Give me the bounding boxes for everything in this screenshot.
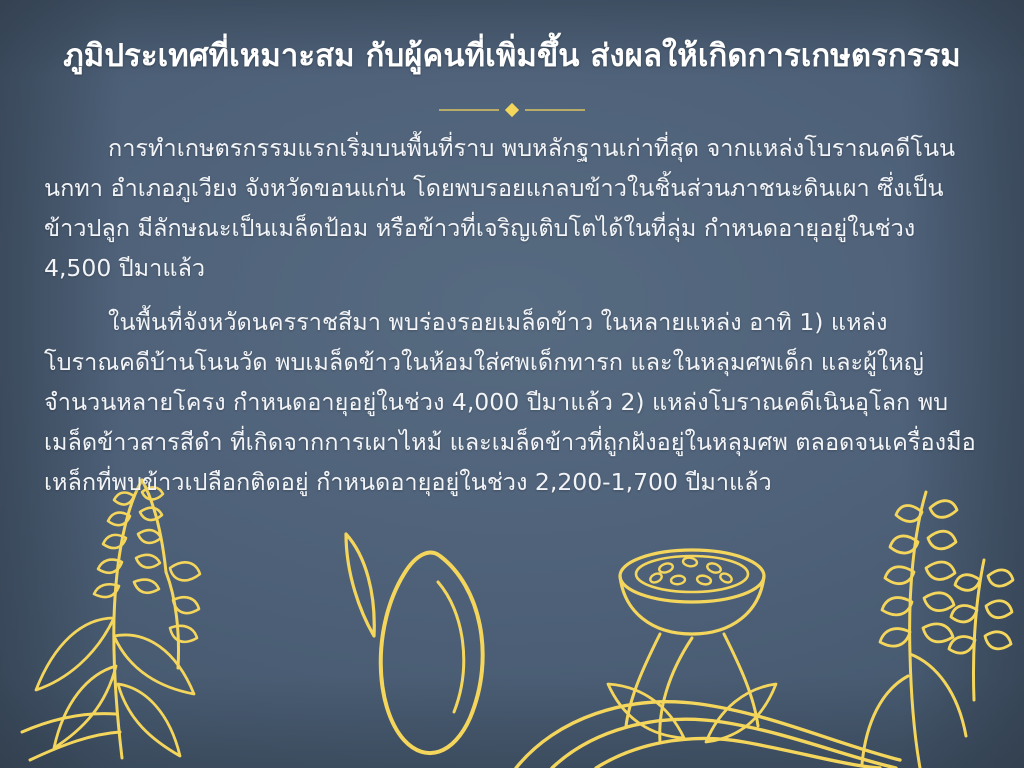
rice-bowl-illustration bbox=[608, 550, 776, 742]
rice-plant-illustration bbox=[22, 480, 200, 760]
paragraph-2: ในพื้นที่จังหวัดนครราชสีมา พบร่องรอยเมล็… bbox=[44, 302, 982, 502]
body-text: การทำเกษตรกรรมแรกเริ่มบนพื้นที่ราบ พบหลั… bbox=[44, 128, 982, 502]
wave-lines-illustration bbox=[516, 702, 900, 768]
page-title: ภูมิประเทศที่เหมาะสม กับผู้คนที่เพิ่มขึ้… bbox=[0, 36, 1024, 76]
decorative-illustrations bbox=[0, 468, 1024, 768]
rice-grain-illustration bbox=[346, 534, 483, 753]
wheat-stalk-illustration bbox=[862, 492, 1013, 768]
paragraph-1: การทำเกษตรกรรมแรกเริ่มบนพื้นที่ราบ พบหลั… bbox=[44, 128, 982, 288]
gold-diamond-divider bbox=[437, 102, 587, 118]
title-area: ภูมิประเทศที่เหมาะสม กับผู้คนที่เพิ่มขึ้… bbox=[0, 36, 1024, 76]
slide-canvas: ภูมิประเทศที่เหมาะสม กับผู้คนที่เพิ่มขึ้… bbox=[0, 0, 1024, 768]
